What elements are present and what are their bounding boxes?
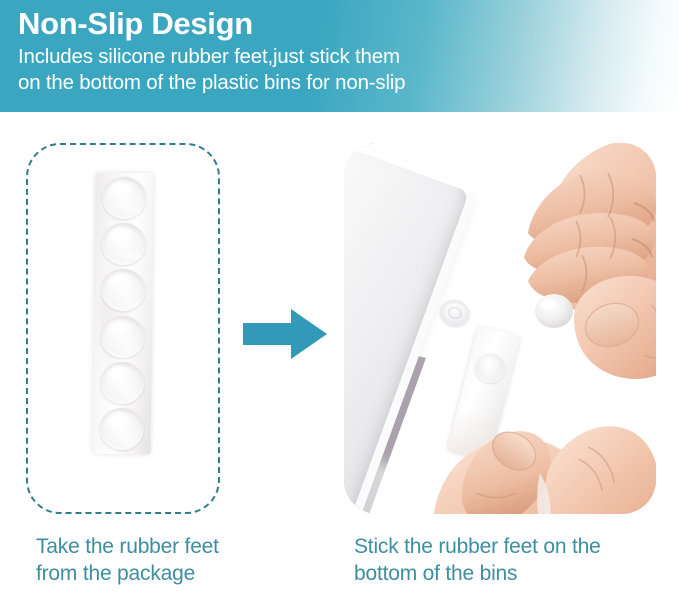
right-photo-clip bbox=[344, 143, 656, 514]
hand-pressing-strip bbox=[402, 375, 656, 514]
rubber-foot-dot bbox=[102, 177, 146, 219]
silicone-feet-strip bbox=[93, 173, 154, 455]
caption-left: Take the rubber feet from the package bbox=[36, 533, 256, 587]
rubber-foot-dot bbox=[100, 408, 144, 450]
header-banner: Non-Slip Design Includes silicone rubber… bbox=[0, 0, 679, 112]
rubber-foot-dot bbox=[101, 315, 145, 357]
left-photo-panel bbox=[26, 143, 220, 514]
rubber-foot-dot bbox=[101, 269, 145, 311]
header-subtitle-line-2: on the bottom of the plastic bins for no… bbox=[18, 70, 679, 96]
arrow-right-icon bbox=[243, 307, 327, 361]
caption-right: Stick the rubber feet on the bottom of t… bbox=[354, 533, 654, 587]
header-subtitle-line-1: Includes silicone rubber feet,just stick… bbox=[18, 44, 679, 70]
rubber-foot-dot bbox=[102, 223, 146, 265]
hand-holding-rubber-foot bbox=[484, 143, 656, 389]
rubber-foot-dot bbox=[100, 362, 144, 404]
page-title: Non-Slip Design bbox=[18, 4, 679, 44]
right-photo-panel bbox=[344, 143, 656, 514]
